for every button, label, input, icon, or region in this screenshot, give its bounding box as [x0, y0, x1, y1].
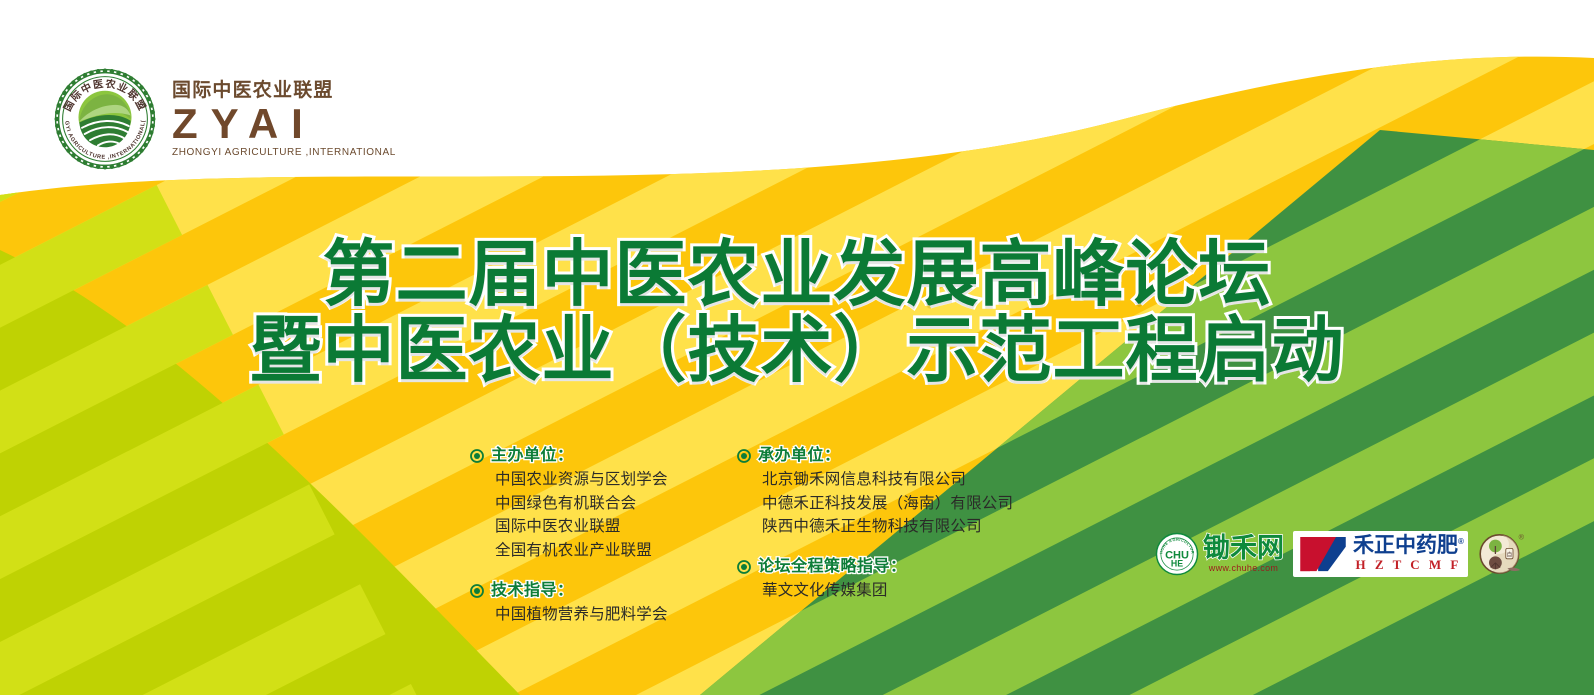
- sprout-root-circular-logo-icon: 自 ®: [1477, 530, 1525, 578]
- conference-banner: 国际中医农业联盟 ZHONGYI AGRICULTURE ,INTERNATIO…: [0, 0, 1594, 695]
- zyai-seal-emblem-icon: 国际中医农业联盟 ZHONGYI AGRICULTURE ,INTERNATIO…: [52, 66, 158, 172]
- credit-item: 中国绿色有机联合会: [495, 492, 725, 516]
- credit-item: 北京锄禾网信息科技有限公司: [762, 468, 1037, 492]
- chuhe-url: www.chuhe.com: [1209, 563, 1278, 573]
- credit-item: 陕西中德禾正生物科技有限公司: [762, 515, 1037, 539]
- credit-items: 北京锄禾网信息科技有限公司 中德禾正科技发展（海南）有限公司 陕西中德禾正生物科…: [737, 468, 1037, 539]
- credits-right-column: 承办单位： 北京锄禾网信息科技有限公司 中德禾正科技发展（海南）有限公司 陕西中…: [737, 446, 1037, 627]
- ring-bullet-icon: [737, 560, 751, 574]
- credit-item: 華文文化传媒集团: [762, 579, 1037, 603]
- credit-items: 華文文化传媒集团: [737, 579, 1037, 603]
- ring-bullet-icon: [470, 449, 484, 463]
- credit-heading-label: 技术指导：: [491, 581, 574, 601]
- zyai-name-en: ZHONGYI AGRICULTURE ,INTERNATIONAL: [172, 147, 396, 158]
- credit-heading: 主办单位：: [470, 446, 725, 466]
- credit-item: 中德禾正科技发展（海南）有限公司: [762, 492, 1037, 516]
- credit-item: 全国有机农业产业联盟: [495, 539, 725, 563]
- credit-item: 中国农业资源与区划学会: [495, 468, 725, 492]
- sponsor-logos: CHUHE AGRICULTURE CHU HE 锄禾网 www.chuhe.c…: [1155, 530, 1525, 578]
- credit-heading: 论坛全程策略指导：: [737, 557, 1037, 577]
- hezheng-name-cn-label: 禾正中药肥: [1353, 534, 1458, 557]
- svg-text:HE: HE: [1171, 558, 1183, 568]
- zyai-acronym: ZYAI: [172, 103, 316, 146]
- credit-group-organizers: 主办单位： 中国农业资源与区划学会 中国绿色有机联合会 国际中医农业联盟 全国有…: [470, 446, 725, 563]
- hezheng-z-mark-icon: Z: [1297, 533, 1349, 575]
- sponsor-logo-chuhe: CHUHE AGRICULTURE CHU HE 锄禾网 www.chuhe.c…: [1155, 532, 1284, 576]
- credits-left-column: 主办单位： 中国农业资源与区划学会 中国绿色有机联合会 国际中医农业联盟 全国有…: [470, 446, 725, 627]
- credit-group-technical-guidance: 技术指导： 中国植物营养与肥料学会: [470, 581, 725, 627]
- credit-items: 中国植物营养与肥料学会: [470, 603, 725, 627]
- chuhe-name-cn: 锄禾网: [1203, 535, 1284, 562]
- credit-group-strategic-guidance: 论坛全程策略指导： 華文文化传媒集团: [737, 557, 1037, 603]
- registered-mark: ®: [1458, 537, 1464, 546]
- ring-bullet-icon: [737, 449, 751, 463]
- credit-heading-label: 承办单位：: [758, 446, 841, 466]
- credit-heading-label: 论坛全程策略指导：: [758, 557, 907, 577]
- credits-block: 主办单位： 中国农业资源与区划学会 中国绿色有机联合会 国际中医农业联盟 全国有…: [470, 446, 1037, 627]
- zyai-logo-lockup: 国际中医农业联盟 ZHONGYI AGRICULTURE ,INTERNATIO…: [52, 66, 396, 172]
- registered-mark: ®: [1519, 533, 1525, 542]
- credit-group-co-organizers: 承办单位： 北京锄禾网信息科技有限公司 中德禾正科技发展（海南）有限公司 陕西中…: [737, 446, 1037, 539]
- ring-bullet-icon: [470, 584, 484, 598]
- credit-heading-label: 主办单位：: [491, 446, 574, 466]
- sponsor-logo-hezheng: Z 禾正中药肥® H Z T C M F: [1293, 531, 1468, 577]
- hezheng-name-en: H Z T C M F: [1356, 558, 1462, 572]
- chuhe-text-block: 锄禾网 www.chuhe.com: [1203, 535, 1284, 573]
- credit-heading: 承办单位：: [737, 446, 1037, 466]
- chuhe-seal-icon: CHUHE AGRICULTURE CHU HE: [1155, 532, 1199, 576]
- zyai-name-cn: 国际中医农业联盟: [172, 80, 334, 102]
- credit-item: 中国植物营养与肥料学会: [495, 603, 725, 627]
- credit-heading: 技术指导：: [470, 581, 725, 601]
- hezheng-name-cn: 禾正中药肥®: [1353, 535, 1464, 556]
- sponsor-logo-sprout: 自 ®: [1477, 530, 1525, 578]
- credit-item: 国际中医农业联盟: [495, 515, 725, 539]
- zyai-wordmark: 国际中医农业联盟 ZYAI ZHONGYI AGRICULTURE ,INTER…: [172, 80, 396, 159]
- credit-items: 中国农业资源与区划学会 中国绿色有机联合会 国际中医农业联盟 全国有机农业产业联…: [470, 468, 725, 563]
- hezheng-text-block: 禾正中药肥® H Z T C M F: [1353, 535, 1464, 572]
